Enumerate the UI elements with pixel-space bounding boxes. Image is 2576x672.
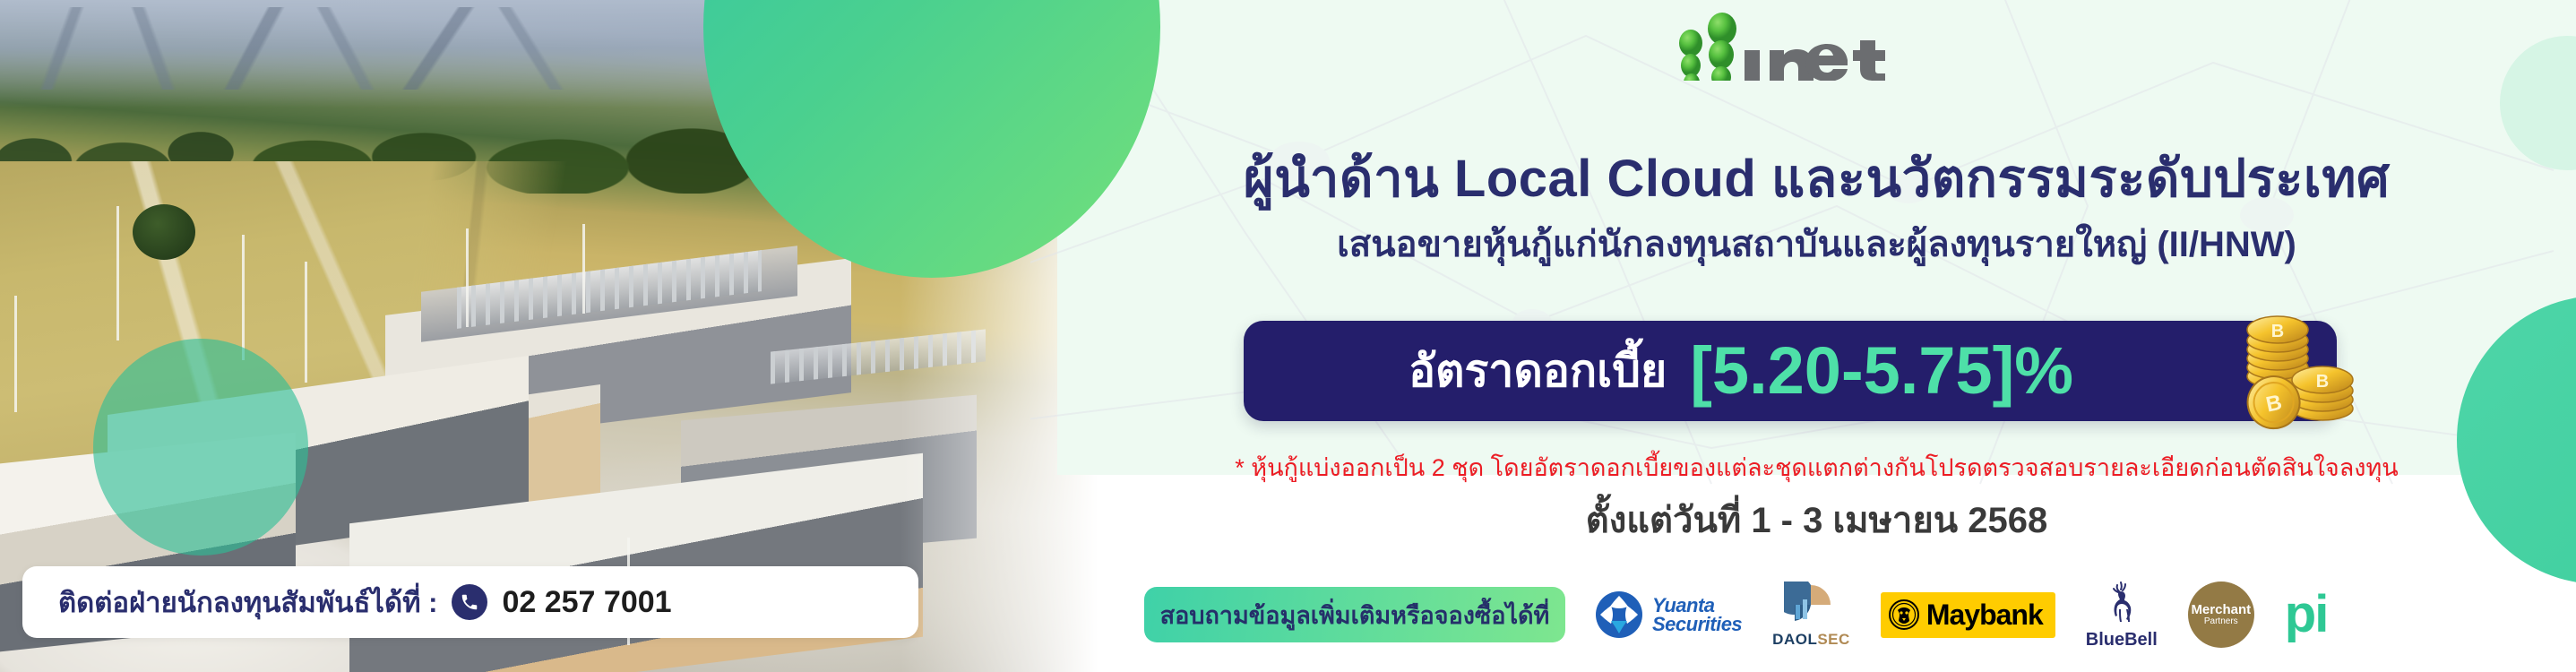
photo-light-pole: [305, 262, 307, 383]
daol-pie-chart-icon: [1784, 582, 1838, 628]
yuanta-line1: Yuanta: [1652, 596, 1742, 615]
bluebell-deer-icon: [2098, 580, 2146, 628]
green-circle-photo-overlay: [93, 339, 308, 556]
photo-light-pole: [242, 235, 245, 360]
interest-rate-value: [5.20-5.75]%: [1690, 338, 2073, 404]
photo-light-pole: [466, 228, 469, 327]
merchant-line1: Merchant: [2191, 603, 2251, 616]
page-title: ผู้นำด้าน Local Cloud และนวัตกรรมระดับปร…: [1057, 136, 2576, 220]
maybank-tiger-icon: [1889, 599, 1919, 630]
photo-light-pole: [582, 224, 585, 314]
daol-line1: DAOL: [1772, 631, 1817, 648]
photo-light-pole: [116, 206, 119, 340]
yuanta-wordmark: Yuanta Securities: [1652, 596, 1742, 633]
svg-text:B: B: [2271, 322, 2284, 341]
daol-wordmark: DAOLSEC: [1772, 631, 1850, 649]
merchant-line2: Partners: [2204, 616, 2238, 627]
interest-rate-box: อัตราดอกเบี้ย [5.20-5.75]%: [1244, 321, 2337, 421]
maybank-wordmark: Maybank: [1926, 599, 2043, 632]
interest-rate-label: อัตราดอกเบี้ย: [1409, 336, 1667, 407]
bitcoin-coins-icon: B B B: [2227, 296, 2380, 446]
inet-logo[interactable]: [1635, 13, 1949, 81]
yuanta-star-icon: [1595, 590, 1643, 639]
partner-yuanta[interactable]: Yuanta Securities: [1595, 573, 1742, 656]
photo-light-pole: [14, 296, 17, 412]
partner-daol-sec[interactable]: DAOLSEC: [1772, 573, 1850, 656]
cta-label: สอบถามข้อมูลเพิ่มเติมหรือจองซื้อได้ที่: [1160, 596, 1550, 634]
investor-relations-contact[interactable]: ติดต่อฝ่ายนักลงทุนสัมพันธ์ได้ที่ : 02 25…: [22, 566, 918, 638]
offering-date: ตั้งแต่วันที่ 1 - 3 เมษายน 2568: [1057, 491, 2576, 548]
bluebell-wordmark: BlueBell: [2086, 630, 2158, 650]
promo-content: ผู้นำด้าน Local Cloud และนวัตกรรมระดับปร…: [1057, 0, 2576, 672]
cta-button[interactable]: สอบถามข้อมูลเพิ่มเติมหรือจองซื้อได้ที่: [1144, 587, 1565, 642]
phone-icon: [452, 584, 487, 620]
merchant-circle-icon: Merchant Partners: [2188, 582, 2254, 648]
partner-maybank[interactable]: Maybank: [1881, 573, 2055, 656]
inet-promo-banner: ผู้นำด้าน Local Cloud และนวัตกรรมระดับปร…: [0, 0, 2576, 672]
pi-wordmark-icon: pi: [2285, 594, 2328, 635]
interest-rate-inner: อัตราดอกเบี้ย [5.20-5.75]%: [1244, 321, 2337, 421]
photo-lone-tree: [133, 204, 195, 260]
yuanta-line2: Securities: [1652, 615, 1742, 633]
partner-bluebell[interactable]: BlueBell: [2086, 573, 2158, 656]
partner-logos: Yuanta Securities DAOLSEC: [1595, 573, 2572, 656]
contact-label: ติดต่อฝ่ายนักลงทุนสัมพันธ์ได้ที่ :: [58, 580, 437, 625]
page-subtitle: เสนอขายหุ้นกู้แก่นักลงทุนสถาบันและผู้ลงท…: [1057, 215, 2576, 272]
daol-line2: SEC: [1817, 631, 1849, 648]
partner-pi[interactable]: pi: [2285, 573, 2328, 656]
disclaimer-note: * หุ้นกู้แบ่งออกเป็น 2 ชุด โดยอัตราดอกเบ…: [1057, 448, 2576, 487]
inet-dots-logo-icon: [1635, 13, 1949, 81]
svg-text:B: B: [2316, 372, 2329, 392]
contact-phone-number: 02 257 7001: [502, 585, 671, 620]
partner-merchant-partners[interactable]: Merchant Partners: [2188, 573, 2254, 656]
